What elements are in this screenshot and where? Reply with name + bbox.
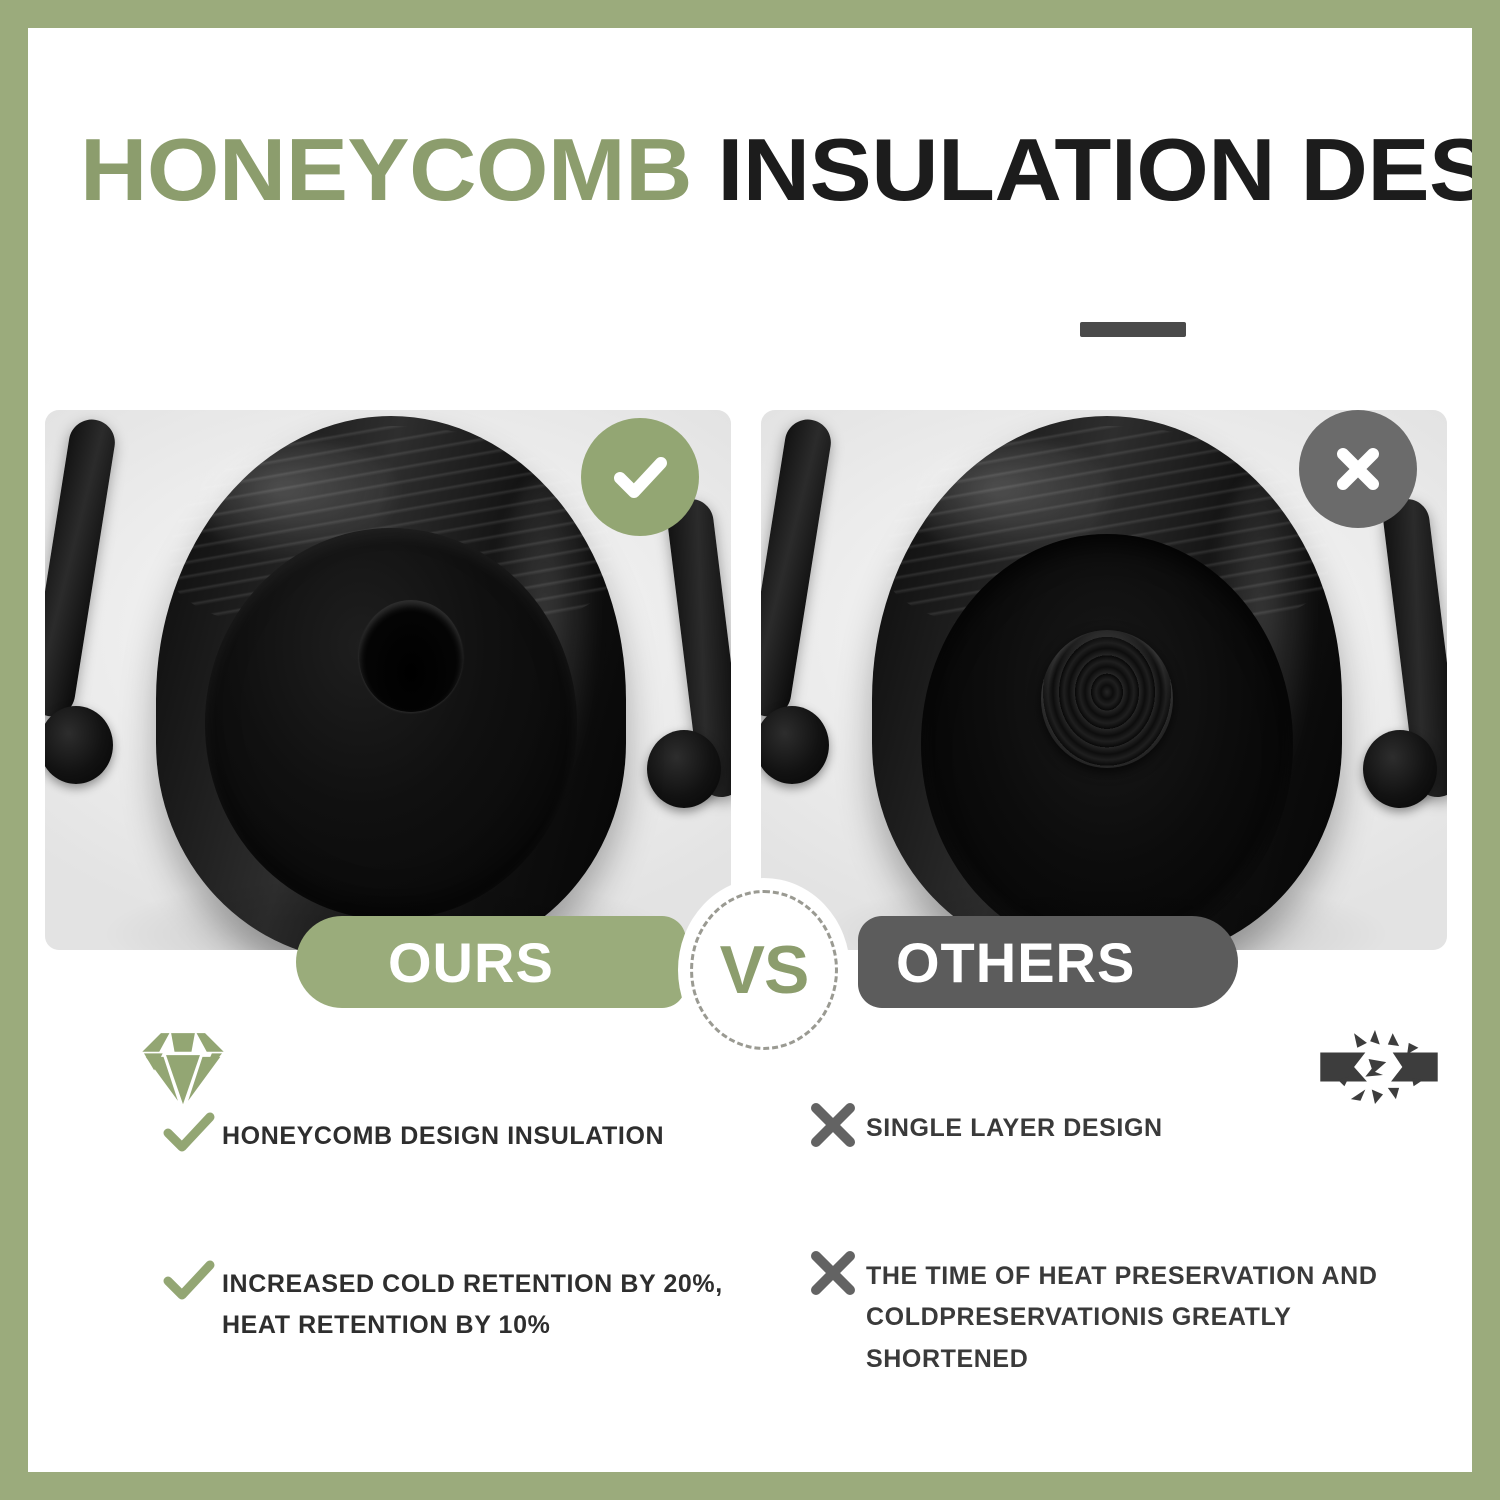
threaded-boss-icon bbox=[1041, 630, 1173, 768]
cap-body-ours bbox=[156, 416, 626, 950]
vs-label: VS bbox=[720, 931, 809, 1009]
feature-line: INCREASED COLD RETENTION BY 20%, bbox=[222, 1270, 723, 1298]
cap-loop-right-icon bbox=[1363, 730, 1437, 808]
honeycomb-insulation-plate bbox=[205, 528, 577, 920]
title-rest: INSULATION DESIGN bbox=[692, 120, 1472, 219]
comparison-banner: OURS OTHERS VS bbox=[28, 896, 1472, 1008]
vent-hole-icon bbox=[359, 600, 463, 712]
others-label: OTHERS bbox=[896, 930, 1135, 995]
divider-dash bbox=[1080, 322, 1186, 337]
title-highlight: HONEYCOMB bbox=[80, 120, 692, 219]
cap-body-others bbox=[872, 416, 1342, 950]
feature-item: INCREASED COLD RETENTION BY 20%, HEAT RE… bbox=[156, 1258, 796, 1347]
feature-line: SINGLE LAYER DESIGN bbox=[866, 1114, 1163, 1142]
page-title: HONEYCOMB INSULATION DESIGN bbox=[80, 126, 1472, 214]
ours-pill: OURS bbox=[296, 916, 686, 1008]
feature-text: INCREASED COLD RETENTION BY 20%, HEAT RE… bbox=[222, 1258, 723, 1347]
feature-line: COLDPRESERVATIONIS GREATLY SHORTENED bbox=[866, 1303, 1291, 1372]
feature-line: HEAT RETENTION BY 10% bbox=[222, 1311, 550, 1339]
others-pill: OTHERS bbox=[858, 916, 1238, 1008]
feature-line: THE TIME OF HEAT PRESERVATION AND bbox=[866, 1262, 1378, 1290]
features-list-others: SINGLE LAYER DESIGN THE TIME OF HEAT PRE… bbox=[800, 1102, 1440, 1472]
feature-item: SINGLE LAYER DESIGN bbox=[800, 1102, 1440, 1154]
feature-text: THE TIME OF HEAT PRESERVATION AND COLDPR… bbox=[866, 1250, 1440, 1380]
feature-text: HONEYCOMB DESIGN INSULATION bbox=[222, 1110, 664, 1157]
infographic-canvas: HONEYCOMB INSULATION DESIGN bbox=[28, 28, 1472, 1472]
product-photo-ours bbox=[45, 410, 731, 950]
broken-bar-icon bbox=[1318, 1030, 1440, 1104]
diamond-gem-icon bbox=[140, 1028, 226, 1106]
x-icon bbox=[800, 1096, 866, 1154]
feature-item: HONEYCOMB DESIGN INSULATION bbox=[156, 1110, 796, 1162]
feature-line: HONEYCOMB DESIGN INSULATION bbox=[222, 1122, 664, 1150]
product-photo-others bbox=[761, 410, 1447, 950]
feature-text: SINGLE LAYER DESIGN bbox=[866, 1102, 1163, 1149]
x-badge bbox=[1299, 410, 1417, 528]
x-icon bbox=[1323, 434, 1393, 504]
x-icon bbox=[800, 1244, 866, 1302]
cap-loop-right-icon bbox=[647, 730, 721, 808]
check-icon bbox=[156, 1104, 222, 1162]
vs-badge: VS bbox=[690, 890, 838, 1050]
infographic-page: HONEYCOMB INSULATION DESIGN bbox=[0, 0, 1500, 1500]
feature-item: THE TIME OF HEAT PRESERVATION AND COLDPR… bbox=[800, 1250, 1440, 1380]
check-icon bbox=[156, 1252, 222, 1310]
check-badge bbox=[581, 418, 699, 536]
features-list-ours: HONEYCOMB DESIGN INSULATION INCREASED CO… bbox=[156, 1110, 796, 1443]
check-icon bbox=[605, 442, 675, 512]
ours-label: OURS bbox=[388, 930, 554, 995]
